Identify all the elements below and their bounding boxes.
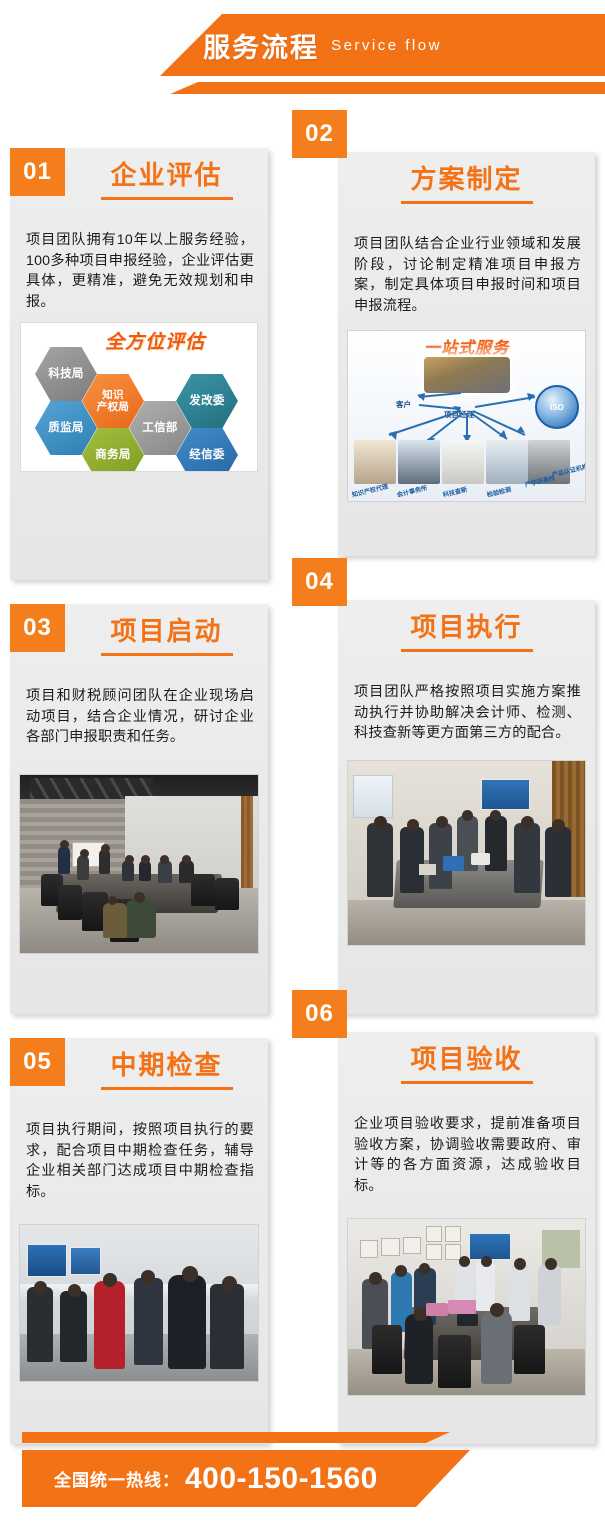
card-05-title-rule xyxy=(101,1087,233,1090)
card-01-number-badge: 01 xyxy=(10,148,65,196)
card-01[interactable]: 01 企业评估 项目团队拥有10年以上服务经验，100多种项目申报经验，企业评估… xyxy=(10,148,268,580)
page-subtitle: Service flow xyxy=(331,37,442,54)
card-06-photo xyxy=(347,1218,586,1396)
card-04-body: 项目团队严格按照项目实施方案推动执行并协助解决会计师、检测、科技查新等更方面第三… xyxy=(338,674,595,754)
card-01-title: 企业评估 xyxy=(110,154,222,196)
page-footer: 全国统一热线： 400-150-1560 xyxy=(0,1410,605,1538)
hotline-group: 全国统一热线： 400-150-1560 xyxy=(22,1450,582,1507)
one-stop-service-node-image-3 xyxy=(442,440,484,484)
certification-seal-icon: ISO xyxy=(535,385,579,429)
card-02-number-badge: 02 xyxy=(292,110,347,158)
one-stop-service-node-image-1 xyxy=(354,440,396,484)
one-stop-service-node-image-2 xyxy=(398,440,440,484)
page-title: 服务流程 xyxy=(203,26,319,65)
card-06-title: 项目验收 xyxy=(410,1038,522,1080)
card-03-body: 项目和财税顾问团队在企业现场启动项目，结合企业情况，研讨企业各部门申报职责和任务… xyxy=(10,678,268,758)
card-06-title-rule xyxy=(401,1081,533,1084)
card-03-photo xyxy=(19,774,259,954)
card-06-body: 企业项目验收要求，提前准备项目验收方案，协调验收需要政府、审计等的各方面资源，达… xyxy=(338,1106,595,1206)
card-06-number-badge: 06 xyxy=(292,990,347,1038)
service-flow-infographic: 服务流程 Service flow 01 企业评估 项目团队拥有10年以上服务经… xyxy=(0,0,605,1538)
photo-meeting-room xyxy=(20,775,258,953)
card-01-title-rule xyxy=(101,197,233,200)
card-04-title: 项目执行 xyxy=(410,606,522,648)
card-04[interactable]: 04 项目执行 项目团队严格按照项目实施方案推动执行并协助解决会计师、检测、科技… xyxy=(338,600,595,1014)
photo-boardroom xyxy=(348,1219,585,1395)
card-03-title-rule xyxy=(101,653,233,656)
photo-conference xyxy=(348,761,585,945)
card-06-header: 项目验收 xyxy=(338,1032,595,1106)
one-stop-service-diagram: 一站式服务 客户 项目经理 xyxy=(347,330,586,502)
card-05[interactable]: 05 中期检查 项目执行期间，按照项目执行的要求，配合项目中期检查任务，辅导企业… xyxy=(10,1038,268,1444)
card-02-title: 方案制定 xyxy=(410,158,522,200)
hotline-label: 全国统一热线： xyxy=(54,1466,180,1491)
card-04-number-badge: 04 xyxy=(292,558,347,606)
card-03[interactable]: 03 项目启动 项目和财税顾问团队在企业现场启动项目，结合企业情况，研讨企业各部… xyxy=(10,604,268,1014)
card-01-body: 项目团队拥有10年以上服务经验，100多种项目申报经验，企业评估更具体，更精准，… xyxy=(10,222,268,322)
card-02-body: 项目团队结合企业行业领域和发展阶段，讨论制定精准项目申报方案，制定具体项目申报时… xyxy=(338,226,595,326)
card-04-title-rule xyxy=(401,649,533,652)
card-04-header: 项目执行 xyxy=(338,600,595,674)
card-02-header: 方案制定 xyxy=(338,152,595,226)
card-05-body: 项目执行期间，按照项目执行的要求，配合项目中期检查任务，辅导企业相关部门达成项目… xyxy=(10,1112,268,1212)
card-02[interactable]: 02 方案制定 项目团队结合企业行业领域和发展阶段，讨论制定精准项目申报方案，制… xyxy=(338,152,595,556)
header-accent-stripe xyxy=(0,82,605,94)
photo-lobby xyxy=(20,1225,258,1381)
footer-accent-stripe xyxy=(22,1432,582,1443)
card-02-title-rule xyxy=(401,201,533,204)
card-05-photo xyxy=(19,1224,259,1382)
card-05-title: 中期检查 xyxy=(110,1044,222,1086)
card-03-title: 项目启动 xyxy=(110,610,222,652)
hex-diagram: 全方位评估 科技局 知识产权局 质监局 商务局 工信部 发改委 经信委 xyxy=(20,322,258,472)
hex-diagram-title: 全方位评估 xyxy=(105,327,205,354)
one-stop-service-node-image-4 xyxy=(486,440,528,484)
card-06[interactable]: 06 项目验收 企业项目验收要求，提前准备项目验收方案，协调验收需要政府、审计等… xyxy=(338,1032,595,1444)
card-04-photo xyxy=(347,760,586,946)
header-title-group: 服务流程 Service flow xyxy=(0,14,605,76)
card-03-number-badge: 03 xyxy=(10,604,65,652)
card-05-number-badge: 05 xyxy=(10,1038,65,1086)
hotline-number[interactable]: 400-150-1560 xyxy=(185,1462,378,1496)
page-header: 服务流程 Service flow xyxy=(0,0,605,110)
